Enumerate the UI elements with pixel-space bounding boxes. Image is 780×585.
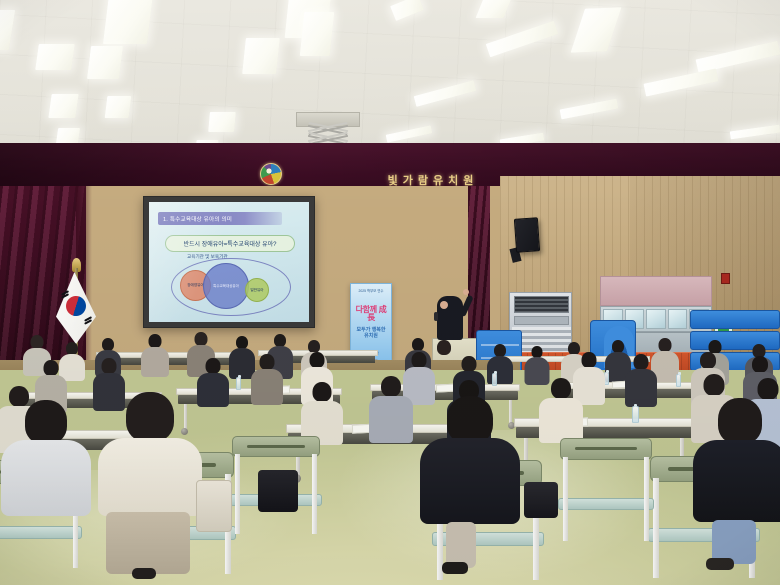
photo-vignette xyxy=(0,0,780,585)
photo-scene: 빛가람유치원 1. 특수교육대상 유아의 의미 반드시 장애유아=특수교육대상 … xyxy=(0,0,780,585)
